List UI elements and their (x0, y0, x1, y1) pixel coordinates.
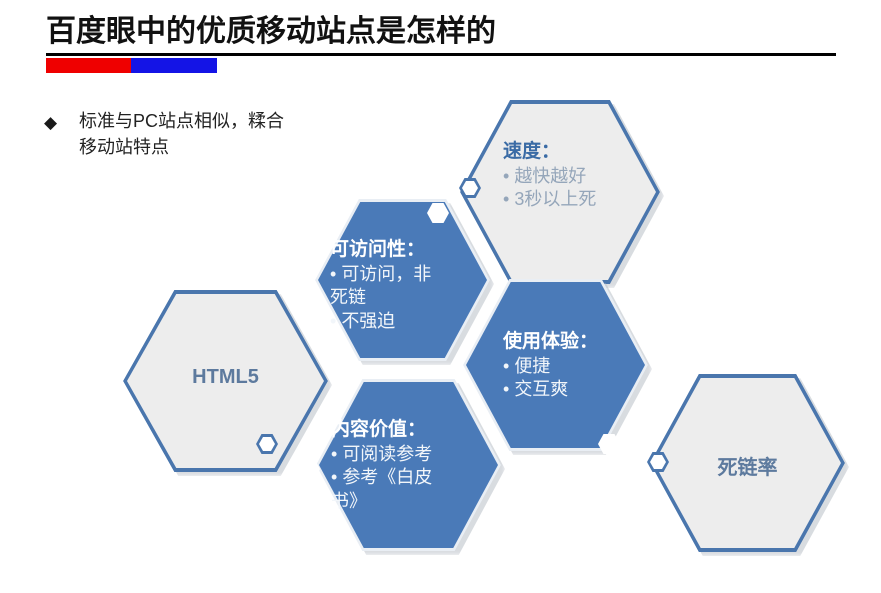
user-experience-hexagon-bullets: 便捷 交互爽 (503, 355, 653, 402)
dead-link-rate-hexagon-label: 死链率 (650, 451, 845, 480)
user-experience-hexagon-content: 使用体验： 便捷 交互爽 (503, 330, 653, 402)
list-item: 可阅读参考 (331, 443, 491, 466)
content-value-hexagon-bullets: 可阅读参考 参考《白皮 书》 (331, 443, 491, 513)
list-item: 不强迫 (330, 310, 480, 333)
speed-hexagon-content: 速度： 越快越好 3秒以上死 (503, 140, 643, 212)
hexagon-diagram: 速度： 越快越好 3秒以上死 可访问性： 可访问，非 死链 不强迫 HTML5 (0, 0, 881, 593)
user-experience-hexagon-title: 使用体验： (503, 330, 653, 354)
list-item: 交互爽 (503, 378, 653, 401)
list-item: 越快越好 (503, 165, 643, 188)
speed-hexagon-title: 速度： (503, 140, 643, 164)
list-item: 3秒以上死 (503, 188, 643, 211)
list-item: 可访问，非 死链 (330, 263, 480, 310)
content-value-hexagon-content: 内容价值： 可阅读参考 参考《白皮 书》 (331, 418, 491, 513)
list-item: 便捷 (503, 355, 653, 378)
dead-link-rate-hexagon-content: 死链率 (650, 451, 845, 480)
speed-hexagon-bullets: 越快越好 3秒以上死 (503, 165, 643, 212)
accessibility-hexagon-content: 可访问性： 可访问，非 死链 不强迫 (330, 238, 480, 333)
accessibility-hexagon-bullets: 可访问，非 死链 不强迫 (330, 263, 480, 333)
html5-hexagon-content: HTML5 (123, 366, 328, 389)
accessibility-hexagon-title: 可访问性： (330, 238, 480, 262)
content-value-hexagon-title: 内容价值： (331, 418, 491, 442)
content-value-hexagon-connector-icon (298, 459, 320, 479)
list-item: 参考《白皮 书》 (331, 466, 491, 513)
html5-hexagon-label: HTML5 (123, 366, 328, 389)
